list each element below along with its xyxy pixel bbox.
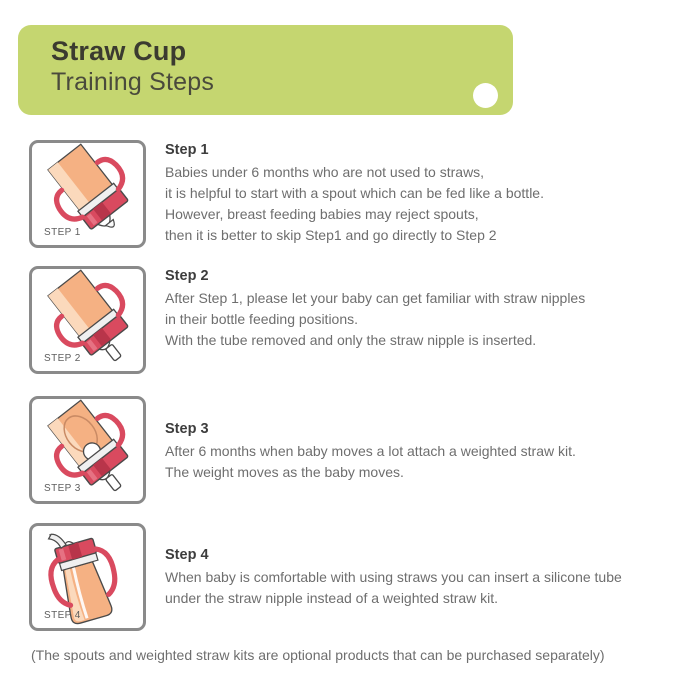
- step-thumbnail-label: STEP 4: [44, 610, 81, 621]
- step-line: Babies under 6 months who are not used t…: [165, 162, 675, 183]
- step-thumbnail-label: STEP 3: [44, 483, 81, 494]
- punch-hole-icon: [473, 83, 498, 108]
- step-thumbnail-label: STEP 1: [44, 227, 81, 238]
- step-heading: Step 4: [165, 545, 675, 566]
- footer-note: (The spouts and weighted straw kits are …: [31, 645, 605, 666]
- step-text-block: Step 2 After Step 1, please let your bab…: [165, 266, 675, 351]
- step-line: in their bottle feeding positions.: [165, 309, 675, 330]
- step-line: under the straw nipple instead of a weig…: [165, 588, 675, 609]
- header-banner: Straw Cup Training Steps: [18, 25, 513, 115]
- step-thumbnail-1: STEP 1: [29, 140, 146, 248]
- step-line: After Step 1, please let your baby can g…: [165, 288, 675, 309]
- page-title: Straw Cup: [51, 34, 186, 68]
- step-line: However, breast feeding babies may rejec…: [165, 204, 675, 225]
- step-text-block: Step 1 Babies under 6 months who are not…: [165, 140, 675, 246]
- step-line: The weight moves as the baby moves.: [165, 462, 675, 483]
- page-subtitle: Training Steps: [51, 66, 214, 99]
- step-thumbnail-2: STEP 2: [29, 266, 146, 374]
- step-line: it is helpful to start with a spout whic…: [165, 183, 675, 204]
- step-line: With the tube removed and only the straw…: [165, 330, 675, 351]
- step-text-block: Step 3 After 6 months when baby moves a …: [165, 419, 675, 483]
- step-line: then it is better to skip Step1 and go d…: [165, 225, 675, 246]
- step-heading: Step 1: [165, 140, 675, 161]
- step-text-block: Step 4 When baby is comfortable with usi…: [165, 545, 675, 609]
- step-thumbnail-label: STEP 2: [44, 353, 81, 364]
- step-line: When baby is comfortable with using stra…: [165, 567, 675, 588]
- step-thumbnail-4: STEP 4: [29, 523, 146, 631]
- step-heading: Step 2: [165, 266, 675, 287]
- step-heading: Step 3: [165, 419, 675, 440]
- step-thumbnail-3: STEP 3: [29, 396, 146, 504]
- step-line: After 6 months when baby moves a lot att…: [165, 441, 675, 462]
